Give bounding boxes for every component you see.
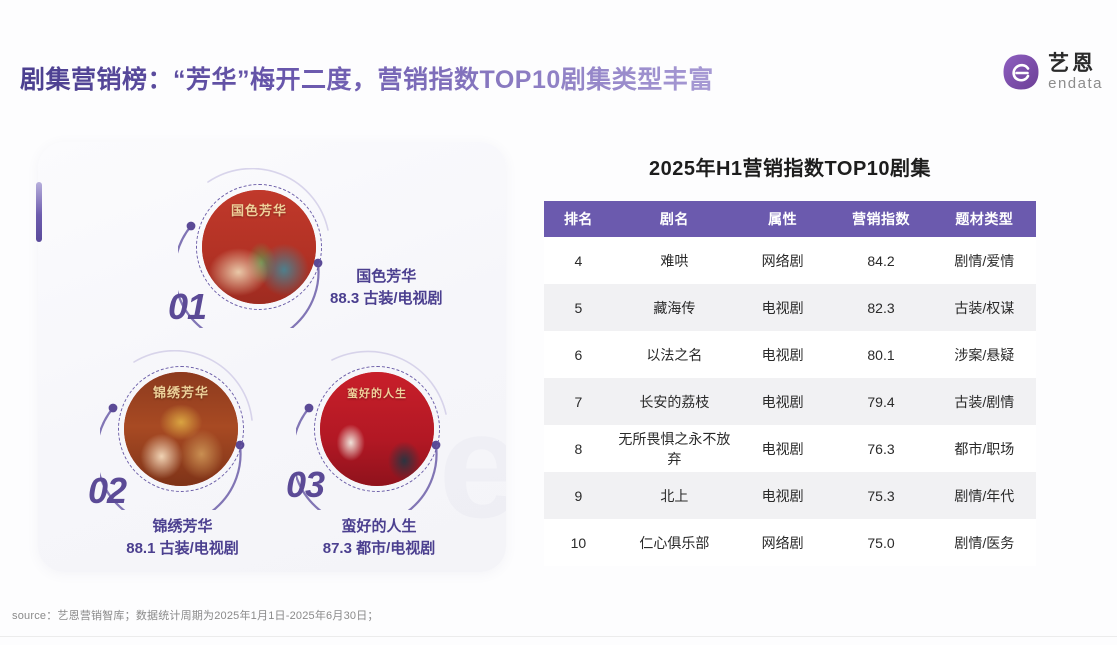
- top10-table: 排名 剧名 属性 营销指数 题材类型 4难哄网络剧84.2剧情/爱情5藏海传电视…: [544, 201, 1036, 566]
- cell-index: 84.2: [829, 237, 932, 284]
- poster-title-3: 蛮好的人生: [320, 385, 434, 401]
- table-row[interactable]: 4难哄网络剧84.2剧情/爱情: [544, 237, 1036, 284]
- col-header-rank: 排名: [544, 201, 613, 237]
- cell-attr: 网络剧: [736, 237, 829, 284]
- cell-genre: 剧情/爱情: [933, 237, 1036, 284]
- table-row[interactable]: 10仁心俱乐部网络剧75.0剧情/医务: [544, 519, 1036, 566]
- cell-rank: 5: [544, 284, 613, 331]
- cell-rank: 8: [544, 425, 613, 472]
- cell-attr: 网络剧: [736, 519, 829, 566]
- cell-index: 79.4: [829, 378, 932, 425]
- cell-rank: 10: [544, 519, 613, 566]
- rank-number-1: 01: [168, 286, 206, 328]
- cell-genre: 都市/职场: [933, 425, 1036, 472]
- source-note: source：艺恩营销智库；数据统计周期为2025年1月1日-2025年6月30…: [12, 607, 379, 623]
- top3-name-3: 蛮好的人生: [284, 516, 474, 538]
- col-header-genre: 题材类型: [933, 201, 1036, 237]
- poster-title-1: 国色芳华: [202, 200, 316, 219]
- cell-name: 仁心俱乐部: [613, 519, 736, 566]
- cell-attr: 电视剧: [736, 331, 829, 378]
- table-row[interactable]: 9北上电视剧75.3剧情/年代: [544, 472, 1036, 519]
- cell-rank: 6: [544, 331, 613, 378]
- col-header-index: 营销指数: [829, 201, 932, 237]
- cell-genre: 古装/权谋: [933, 284, 1036, 331]
- cell-rank: 9: [544, 472, 613, 519]
- cell-attr: 电视剧: [736, 425, 829, 472]
- cell-rank: 4: [544, 237, 613, 284]
- logo-text-en: endata: [1048, 76, 1103, 91]
- cell-index: 75.3: [829, 472, 932, 519]
- top3-label-3: 蛮好的人生 87.3 都市/电视剧: [284, 516, 474, 560]
- top3-label-2: 锦绣芳华 88.1 古装/电视剧: [90, 516, 275, 560]
- cell-genre: 古装/剧情: [933, 378, 1036, 425]
- top3-meta-2: 88.1 古装/电视剧: [90, 538, 275, 560]
- top3-meta-1: 88.3 古装/电视剧: [330, 288, 443, 310]
- poster-title-2: 锦绣芳华: [124, 382, 238, 401]
- cell-name: 长安的荔枝: [613, 378, 736, 425]
- cell-rank: 7: [544, 378, 613, 425]
- cell-genre: 剧情/年代: [933, 472, 1036, 519]
- footer-divider: [0, 636, 1117, 637]
- cell-name: 藏海传: [613, 284, 736, 331]
- page-title: 剧集营销榜：“芳华”梅开二度，营销指数TOP10剧集类型丰富: [20, 60, 714, 96]
- top3-item-1[interactable]: 国色芳华 01 国色芳华 88.3 古装/电视剧: [178, 168, 408, 328]
- table-row[interactable]: 6以法之名电视剧80.1涉案/悬疑: [544, 331, 1036, 378]
- cell-name: 北上: [613, 472, 736, 519]
- cell-index: 82.3: [829, 284, 932, 331]
- poster-1: 国色芳华: [202, 190, 316, 304]
- cell-index: 76.3: [829, 425, 932, 472]
- table-row[interactable]: 8无所畏惧之永不放弃电视剧76.3都市/职场: [544, 425, 1036, 472]
- cell-index: 80.1: [829, 331, 932, 378]
- slide-root: 剧集营销榜：“芳华”梅开二度，营销指数TOP10剧集类型丰富 艺恩 endata: [0, 0, 1117, 645]
- top3-name-1: 国色芳华: [330, 266, 443, 288]
- cell-genre: 涉案/悬疑: [933, 331, 1036, 378]
- table-title: 2025年H1营销指数TOP10剧集: [544, 152, 1036, 181]
- poster-2: 锦绣芳华: [124, 372, 238, 486]
- table-header-row: 排名 剧名 属性 营销指数 题材类型: [544, 201, 1036, 237]
- poster-3: 蛮好的人生: [320, 372, 434, 486]
- cell-name: 难哄: [613, 237, 736, 284]
- col-header-name: 剧名: [613, 201, 736, 237]
- top3-name-2: 锦绣芳华: [90, 516, 275, 538]
- cell-index: 75.0: [829, 519, 932, 566]
- top3-meta-3: 87.3 都市/电视剧: [284, 538, 474, 560]
- rank-number-2: 02: [88, 470, 126, 512]
- accent-bar: [36, 182, 42, 242]
- cell-name: 无所畏惧之永不放弃: [613, 425, 736, 472]
- table-row[interactable]: 7长安的荔枝电视剧79.4古装/剧情: [544, 378, 1036, 425]
- top3-item-3[interactable]: 蛮好的人生 03 蛮好的人生 87.3 都市/电视剧: [296, 350, 526, 560]
- table-row[interactable]: 5藏海传电视剧82.3古装/权谋: [544, 284, 1036, 331]
- cell-attr: 电视剧: [736, 472, 829, 519]
- cell-attr: 电视剧: [736, 378, 829, 425]
- col-header-attr: 属性: [736, 201, 829, 237]
- cell-attr: 电视剧: [736, 284, 829, 331]
- logo-text-cn: 艺恩: [1048, 53, 1103, 74]
- table-body: 4难哄网络剧84.2剧情/爱情5藏海传电视剧82.3古装/权谋6以法之名电视剧8…: [544, 237, 1036, 566]
- brand-logo: 艺恩 endata: [1001, 52, 1103, 92]
- cell-genre: 剧情/医务: [933, 519, 1036, 566]
- cell-name: 以法之名: [613, 331, 736, 378]
- endata-e-logo-icon: [1001, 52, 1041, 92]
- rank-number-3: 03: [286, 464, 324, 506]
- top3-label-1: 国色芳华 88.3 古装/电视剧: [330, 266, 443, 310]
